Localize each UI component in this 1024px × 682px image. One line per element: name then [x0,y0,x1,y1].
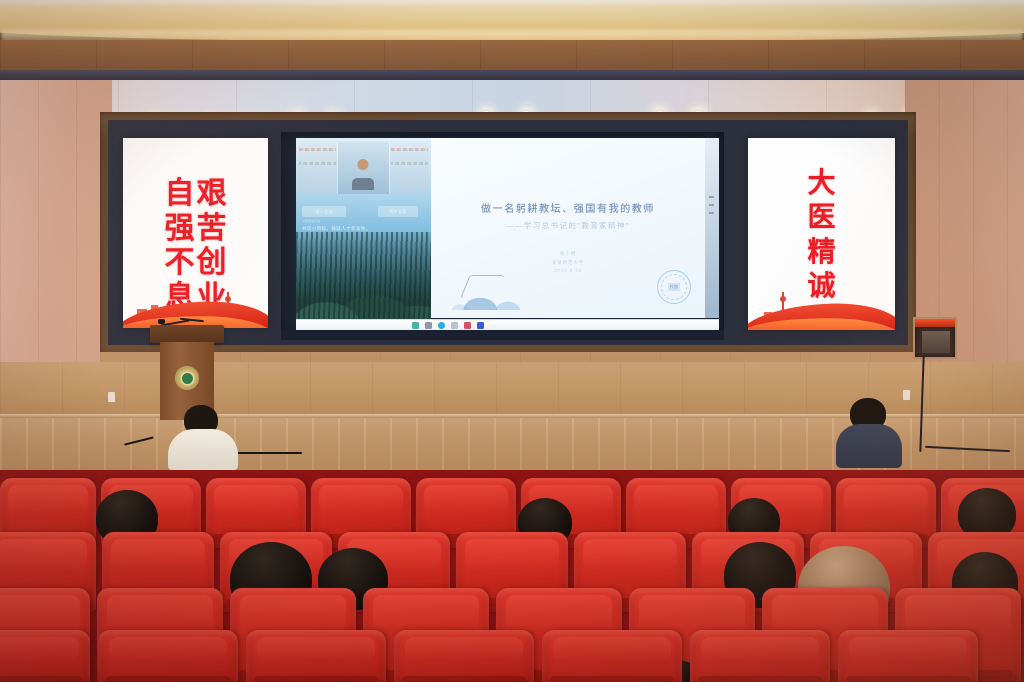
projection-screen[interactable]: 加入会议 同步云盘 在线课堂直播 共筑小目标、铸就人才新高地。 做一名躬耕教坛、… [281,132,724,340]
mail-icon[interactable] [451,322,458,329]
banner-char: 创 [197,247,227,279]
equipment-niche [913,317,957,359]
seat [246,630,386,682]
seat [98,630,238,682]
projected-taskbar[interactable] [296,319,719,330]
panel-button-row: 加入会议 同步云盘 [302,206,425,218]
banner-char: 医 [807,202,835,231]
panel-sub-label: 在线课堂直播 [302,219,320,223]
floor-cable [236,452,302,454]
podium-top-surface [150,325,224,343]
video-tile [390,142,429,194]
projected-left-panel[interactable]: 加入会议 同步云盘 在线课堂直播 共筑小目标、铸就人才新高地。 [296,138,431,330]
slide-subtitle: ——学习总书记的"教育家精神" [431,220,705,231]
meeting-icon[interactable] [477,322,484,329]
right-wall-banner: 大 医 精 诚 [748,138,895,330]
attendee-front-right [836,398,902,462]
left-wall-banner: 艰 苦 创 业 自 强 不 息 [123,138,268,328]
audience-seating-area [0,470,1024,682]
niche-equipment-panel [922,331,950,353]
slide-presenter: 张小明 [431,250,705,259]
join-meeting-button[interactable]: 加入会议 [302,206,346,217]
seal-label: 校徽 [668,283,680,291]
slide-title: 做一名躬耕教坛、强国有我的教师 [431,200,705,215]
video-conference-strip [298,142,429,194]
university-crest-icon [175,366,199,390]
seat [542,630,682,682]
presentation-slide: 做一名躬耕教坛、强国有我的教师 ——学习总书记的"教育家精神" 张小明 某某师范… [431,138,705,318]
seat [690,630,830,682]
banner-char: 自 [165,178,195,210]
university-seal-icon: 校徽 [657,270,691,304]
banner-skyline-graphic [748,288,895,330]
right-banner-column: 大 医 精 诚 [807,168,835,306]
ink-mountain-decoration [449,262,541,310]
panel-mountain-photo [296,232,431,330]
video-tile [298,142,337,194]
attendee-front-left [168,405,238,467]
projected-right-strip [705,138,719,318]
banner-char: 强 [165,213,195,245]
banner-char: 艰 [197,178,227,210]
wall-outlet-right [903,390,910,400]
ceiling-dark-soffit [0,40,1024,72]
browser-icon[interactable] [412,322,419,329]
seat [0,630,90,682]
video-tile-speaker [338,142,390,194]
banner-char: 大 [807,168,835,197]
auditorium-scene: 艰 苦 创 业 自 强 不 息 大 医 [0,0,1024,682]
seat [838,630,978,682]
right-banner-text: 大 医 精 诚 [748,168,895,306]
folder-icon[interactable] [425,322,432,329]
projection-bottom-bezel [281,330,724,340]
seat [394,630,534,682]
niche-status-light [915,319,955,327]
phone-icon[interactable] [438,322,445,329]
banner-char: 苦 [197,213,227,245]
seat-row-4 [0,630,1024,682]
wall-outlet-left [108,392,115,402]
sync-cloud-button[interactable]: 同步云盘 [378,206,418,217]
media-icon[interactable] [464,322,471,329]
banner-char: 精 [807,237,835,266]
banner-char: 不 [165,247,195,279]
